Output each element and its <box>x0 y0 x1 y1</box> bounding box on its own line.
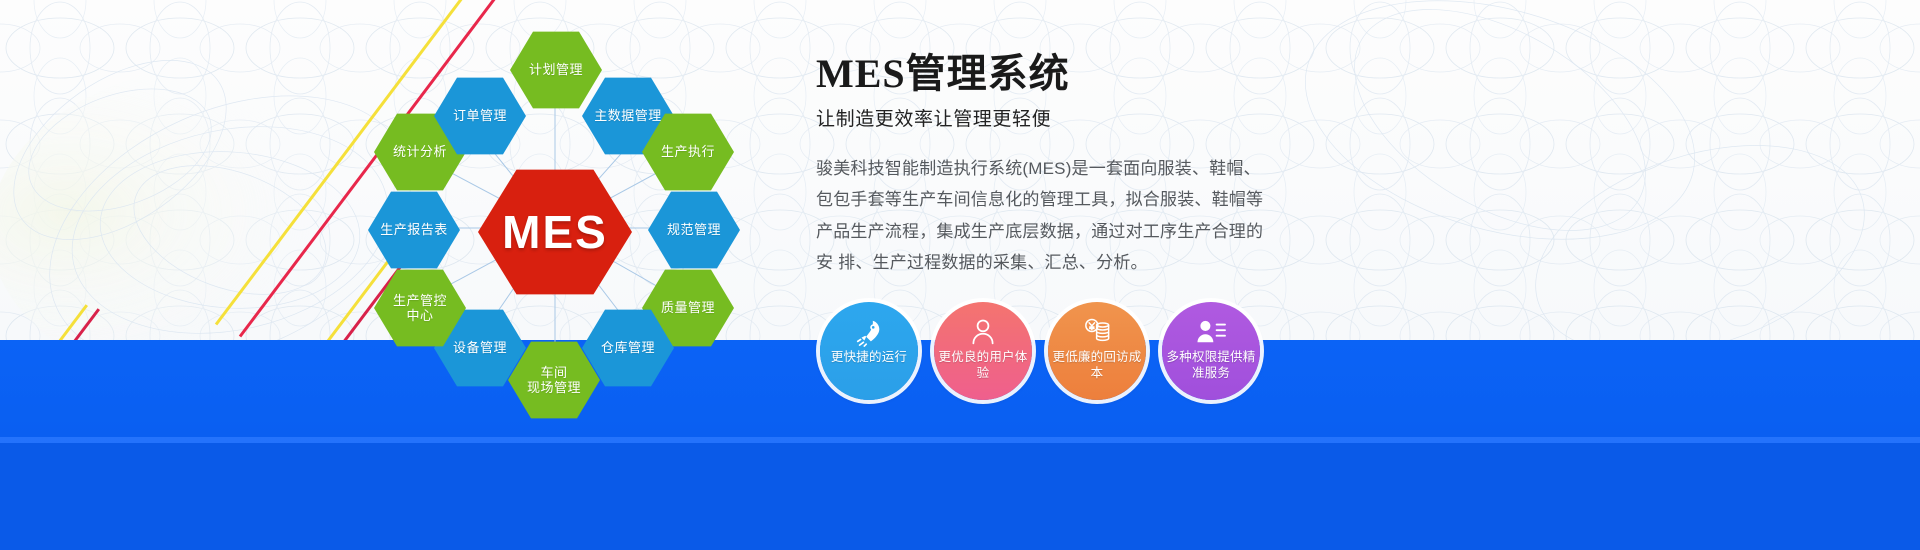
feature-badge-faster-operation[interactable]: 更快捷的运行 <box>820 302 918 400</box>
hex-label: 车间现场管理 <box>527 365 581 396</box>
rocket-icon <box>854 317 884 347</box>
hex-label: 统计分析 <box>393 144 447 159</box>
background-blue-lower <box>0 443 1920 550</box>
feature-badge-permissions[interactable]: 多种权限提供精准服务 <box>1162 302 1260 400</box>
hex-label: 仓库管理 <box>601 340 655 355</box>
description-paragraph: 骏美科技智能制造执行系统(MES)是一套面向服装、鞋帽、包包手套等生产车间信息化… <box>816 153 1276 279</box>
hex-label: 生产报告表 <box>380 222 448 237</box>
user-icon <box>969 317 997 347</box>
hex-label: 订单管理 <box>453 108 507 123</box>
badge-label: 多种权限提供精准服务 <box>1165 350 1257 381</box>
badge-label: 更优良的用户体验 <box>937 350 1029 381</box>
hex-label: 生产执行 <box>661 144 715 159</box>
hex-label: 主数据管理 <box>594 108 662 123</box>
banner-stage: MES 计划管理 主数据管理 生产执行 规范管理 质量管理 仓库管理 车间现场管… <box>0 0 1920 550</box>
banner-text-block: MES管理系统 让制造更效率让管理更轻便 骏美科技智能制造执行系统(MES)是一… <box>816 52 1336 279</box>
feature-badge-lower-cost[interactable]: 更低廉的回访成本 <box>1048 302 1146 400</box>
page-subtitle: 让制造更效率让管理更轻便 <box>816 104 1336 131</box>
badge-label: 更快捷的运行 <box>823 350 915 366</box>
money-icon <box>1082 317 1112 347</box>
feature-badge-better-experience[interactable]: 更优良的用户体验 <box>934 302 1032 400</box>
hex-label: 生产管控中心 <box>393 293 447 324</box>
user-list-icon <box>1195 317 1227 347</box>
hex-label: 计划管理 <box>529 62 583 77</box>
mes-hex-diagram: MES 计划管理 主数据管理 生产执行 规范管理 质量管理 仓库管理 车间现场管… <box>330 0 800 450</box>
badge-label: 更低廉的回访成本 <box>1051 350 1143 381</box>
hex-label: 设备管理 <box>453 340 507 355</box>
hex-label: 规范管理 <box>667 222 721 237</box>
feature-badge-list: 更快捷的运行 更优良的用户体验 <box>820 302 1260 400</box>
page-title: MES管理系统 <box>816 52 1336 97</box>
hex-label: 质量管理 <box>661 300 715 315</box>
hex-core-label: MES <box>502 205 608 259</box>
